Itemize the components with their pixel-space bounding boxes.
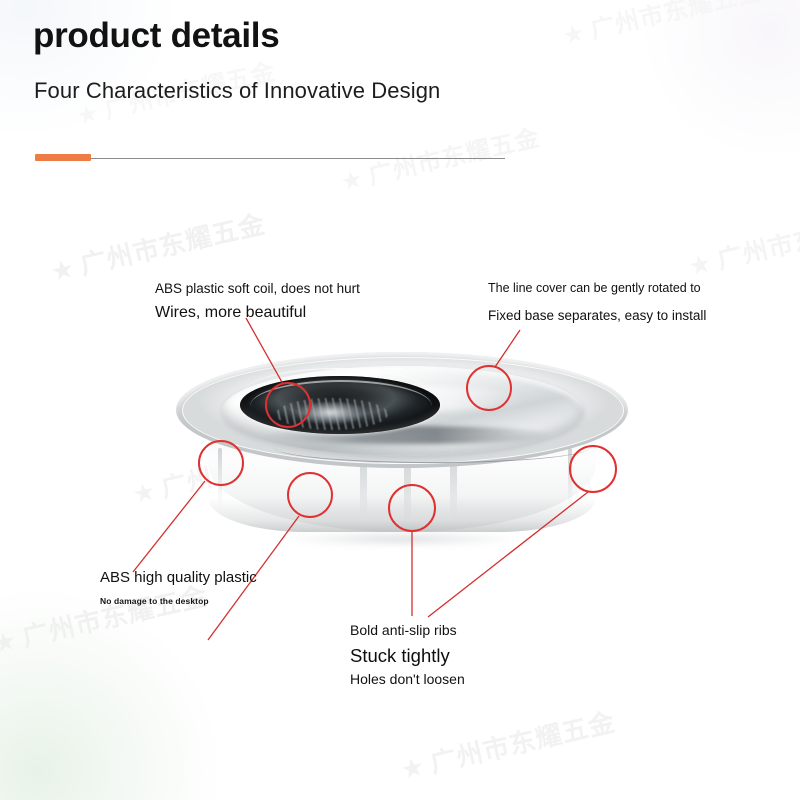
annotation-line2: Fixed base separates, easy to install xyxy=(488,306,706,325)
watermark: ★广州市东耀五金 xyxy=(685,201,800,284)
annotation-line1: ABS plastic soft coil, does not hurt xyxy=(155,279,360,298)
star-icon: ★ xyxy=(560,18,588,50)
star-icon: ★ xyxy=(686,248,715,282)
background-tint-bottom-left xyxy=(0,590,220,800)
background-tint-top-right xyxy=(640,0,800,160)
page-title: product details xyxy=(33,18,279,53)
star-icon: ★ xyxy=(398,752,428,787)
rib-edge-left xyxy=(218,448,222,510)
header-accent-bar xyxy=(35,154,91,161)
lid-gap-highlight xyxy=(244,368,430,419)
watermark-text: 广州市东耀五金 xyxy=(366,123,543,190)
annotation-line1: ABS high quality plastic xyxy=(100,567,257,588)
star-icon: ★ xyxy=(0,626,20,661)
annotation-line2: Wires, more beautiful xyxy=(155,302,360,325)
star-icon: ★ xyxy=(48,254,78,289)
product-shadow xyxy=(234,528,570,550)
annotation-line-cover: The line cover can be gently rotated to … xyxy=(488,280,706,325)
annotation-line1: The line cover can be gently rotated to xyxy=(488,280,706,298)
header-divider xyxy=(35,158,505,159)
annotation-anti-slip-ribs: Bold anti-slip ribs Stuck tightly Holes … xyxy=(350,621,465,690)
grommet-lid xyxy=(222,366,584,456)
watermark-text: 广州市东耀五金 xyxy=(714,206,800,275)
annotation-abs-plastic: ABS high quality plastic No damage to th… xyxy=(100,567,257,607)
watermark-text: 广州市东耀五金 xyxy=(78,210,269,282)
annotation-soft-coil: ABS plastic soft coil, does not hurt Wir… xyxy=(155,279,360,325)
rib-edge-right xyxy=(568,448,572,510)
annotation-line2: Stuck tightly xyxy=(350,643,465,669)
star-icon: ★ xyxy=(338,164,366,196)
watermark-text: 广州市东耀五金 xyxy=(588,0,765,44)
annotation-line2: No damage to the desktop xyxy=(100,595,257,607)
page-subtitle: Four Characteristics of Innovative Desig… xyxy=(34,80,440,102)
watermark: ★广州市东耀五金 xyxy=(559,0,765,51)
star-icon: ★ xyxy=(130,476,159,510)
product-detail-page: ★广州市东耀五金 ★广州市东耀五金 ★广州市东耀五金 ★广州市东耀五金 ★广州市… xyxy=(0,0,800,800)
watermark: ★广州市东耀五金 xyxy=(397,702,619,787)
annotation-line1: Bold anti-slip ribs xyxy=(350,621,465,641)
watermark: ★广州市东耀五金 xyxy=(47,204,269,289)
lid-seam xyxy=(274,432,590,463)
watermark-text: 广州市东耀五金 xyxy=(428,708,619,780)
product-image xyxy=(176,352,628,564)
annotation-line3: Holes don't loosen xyxy=(350,670,465,690)
